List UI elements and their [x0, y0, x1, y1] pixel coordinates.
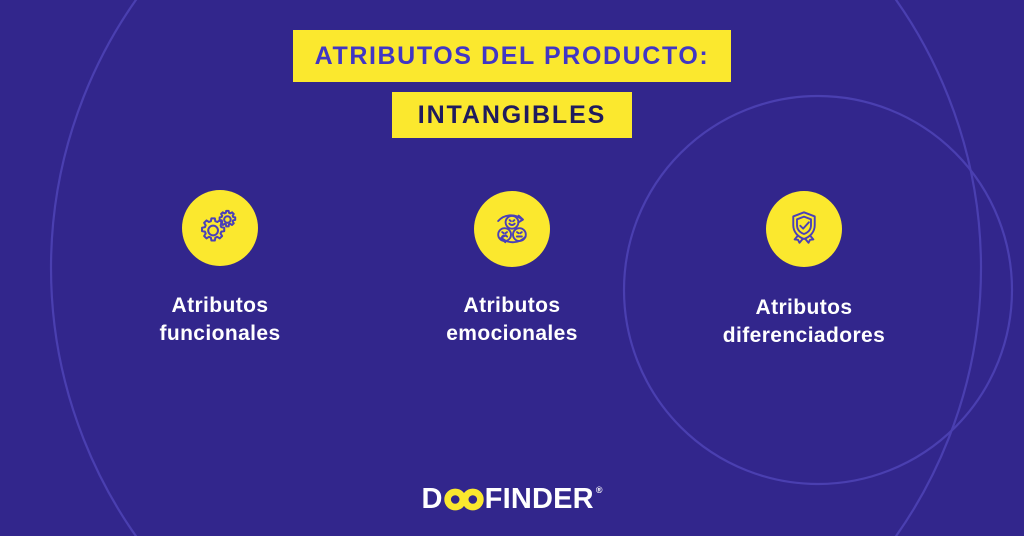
brand-logo-inner: D FINDER ® — [422, 485, 603, 514]
attribute-label-diferenciadores: Atributos diferenciadores — [723, 294, 885, 350]
title-line-2: INTANGIBLES — [0, 92, 1024, 138]
gears-icon — [197, 205, 243, 251]
brand-logo-oo-mark — [444, 485, 484, 514]
infographic-canvas: ATRIBUTOS DEL PRODUCTO: INTANGIBLES — [0, 0, 1024, 536]
brand-logo-finder: FINDER — [485, 485, 594, 514]
attribute-item-emocionales: Atributos emocionales — [367, 190, 657, 348]
attribute-item-funcionales: Atributos funcionales — [75, 190, 365, 348]
icon-badge-emocionales — [474, 191, 550, 267]
icon-badge-funcionales — [182, 190, 258, 266]
attribute-label-line2: diferenciadores — [723, 324, 885, 347]
award-shield-check-icon — [781, 206, 827, 252]
attribute-label-funcionales: Atributos funcionales — [159, 292, 280, 348]
attribute-label-line2: funcionales — [159, 322, 280, 345]
headline-block: ATRIBUTOS DEL PRODUCTO: INTANGIBLES — [0, 30, 1024, 138]
double-o-icon — [444, 485, 484, 514]
attribute-label-emocionales: Atributos emocionales — [446, 292, 578, 348]
attribute-label-line1: Atributos — [172, 294, 269, 317]
attribute-item-diferenciadores: Atributos diferenciadores — [659, 190, 949, 350]
attributes-row: Atributos funcionales — [0, 190, 1024, 350]
attribute-label-line1: Atributos — [756, 296, 853, 319]
icon-badge-diferenciadores — [766, 191, 842, 267]
brand-logo-d: D — [422, 485, 443, 514]
emotion-faces-cycle-icon — [488, 205, 536, 253]
brand-logo: D FINDER ® — [0, 485, 1024, 514]
registered-trademark-icon: ® — [596, 486, 603, 495]
page-title-primary: ATRIBUTOS DEL PRODUCTO: — [293, 30, 732, 82]
page-title-secondary: INTANGIBLES — [392, 92, 633, 138]
attribute-label-line1: Atributos — [464, 294, 561, 317]
attribute-label-line2: emocionales — [446, 322, 578, 345]
title-line-1: ATRIBUTOS DEL PRODUCTO: — [0, 30, 1024, 82]
